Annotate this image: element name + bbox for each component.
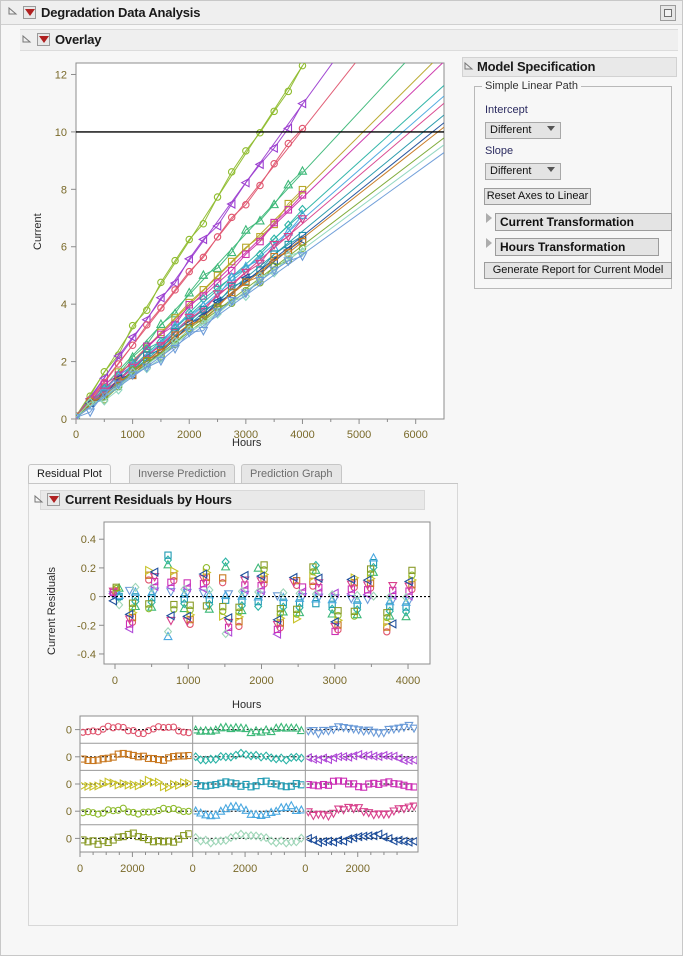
svg-text:2: 2 — [61, 357, 67, 369]
overlay-red-triangle-icon[interactable] — [37, 33, 50, 46]
svg-text:0: 0 — [66, 833, 72, 845]
svg-text:0: 0 — [66, 779, 72, 791]
reset-axes-button[interactable]: Reset Axes to Linear — [484, 188, 591, 205]
svg-text:0.4: 0.4 — [81, 534, 96, 546]
residual-red-triangle-icon[interactable] — [47, 493, 60, 506]
svg-text:12: 12 — [55, 69, 67, 81]
window-title-bar: Degradation Data Analysis — [1, 1, 682, 25]
svg-text:2000: 2000 — [177, 429, 201, 441]
overlay-open-arrow[interactable] — [22, 34, 32, 44]
svg-text:10: 10 — [55, 127, 67, 139]
svg-text:4: 4 — [61, 299, 67, 311]
svg-text:4000: 4000 — [396, 675, 420, 687]
svg-text:0: 0 — [66, 806, 72, 818]
chevron-right-icon[interactable] — [486, 213, 492, 223]
overlay-section-header — [20, 29, 678, 51]
svg-text:0.2: 0.2 — [81, 563, 96, 575]
svg-text:2000: 2000 — [345, 863, 369, 875]
svg-text:6: 6 — [61, 242, 67, 254]
model-spec-open-arrow[interactable] — [464, 61, 474, 71]
svg-text:0: 0 — [66, 752, 72, 764]
residuals-small-multiples: 00000020000200002000 — [30, 712, 455, 882]
svg-text:0: 0 — [90, 592, 96, 604]
overlay-x-axis-label: Hours — [232, 437, 261, 449]
svg-text:0: 0 — [112, 675, 118, 687]
overlay-chart: 0246810120100020003000400050006000 — [20, 55, 460, 455]
residual-open-arrow[interactable] — [34, 494, 44, 504]
svg-text:0: 0 — [66, 725, 72, 737]
red-triangle-icon[interactable] — [23, 6, 36, 19]
simple-linear-path-legend: Simple Linear Path — [482, 80, 581, 92]
svg-text:0: 0 — [73, 429, 79, 441]
chevron-right-icon[interactable] — [486, 238, 492, 248]
tab-inverse-prediction[interactable]: Inverse Prediction — [129, 464, 235, 484]
svg-text:3000: 3000 — [323, 675, 347, 687]
residual-x-axis-label: Hours — [232, 699, 261, 711]
small-multiples-canvas: 00000020000200002000 — [30, 712, 455, 882]
tab-residual-plot[interactable]: Residual Plot — [28, 464, 111, 484]
tabstrip: Residual Plot Inverse Prediction Predict… — [28, 464, 458, 484]
svg-text:2000: 2000 — [233, 863, 257, 875]
overlay-y-axis-label: Current — [32, 213, 44, 250]
svg-text:5000: 5000 — [347, 429, 371, 441]
slope-value: Different — [490, 164, 531, 179]
current-residuals-by-hours-chart: -0.4-0.200.20.401000200030004000 — [30, 512, 455, 712]
page-title: Degradation Data Analysis — [41, 5, 200, 20]
chevron-down-icon — [547, 126, 555, 131]
slope-label: Slope — [485, 145, 513, 157]
intercept-value: Different — [490, 123, 531, 138]
svg-text:1000: 1000 — [120, 429, 144, 441]
window-pin-icon[interactable] — [660, 5, 676, 21]
overlay-chart-canvas: 0246810120100020003000400050006000 — [20, 55, 460, 455]
current-transformation-header[interactable]: Current Transformation — [495, 213, 672, 231]
svg-text:4000: 4000 — [290, 429, 314, 441]
intercept-label: Intercept — [485, 104, 528, 116]
chevron-down-icon — [547, 167, 555, 172]
residual-chart-canvas: -0.4-0.200.20.401000200030004000 — [30, 512, 455, 712]
hours-transformation-header[interactable]: Hours Transformation — [495, 238, 659, 256]
svg-text:6000: 6000 — [403, 429, 427, 441]
svg-text:-0.4: -0.4 — [77, 649, 96, 661]
intercept-select[interactable]: Different — [485, 122, 561, 139]
svg-text:8: 8 — [61, 184, 67, 196]
overlay-title: Overlay — [55, 32, 101, 47]
residual-title: Current Residuals by Hours — [65, 492, 232, 507]
svg-text:0: 0 — [190, 863, 196, 875]
svg-text:0: 0 — [302, 863, 308, 875]
svg-text:0: 0 — [61, 414, 67, 426]
tab-prediction-graph[interactable]: Prediction Graph — [241, 464, 342, 484]
slope-select[interactable]: Different — [485, 163, 561, 180]
svg-text:0: 0 — [77, 863, 83, 875]
outline-open-arrow[interactable] — [8, 6, 18, 16]
svg-text:2000: 2000 — [120, 863, 144, 875]
svg-text:-0.2: -0.2 — [77, 620, 96, 632]
svg-text:1000: 1000 — [176, 675, 200, 687]
residual-y-axis-label: Current Residuals — [46, 567, 58, 655]
svg-text:2000: 2000 — [249, 675, 273, 687]
model-spec-title: Model Specification — [477, 59, 595, 74]
generate-report-button[interactable]: Generate Report for Current Model — [484, 262, 672, 279]
